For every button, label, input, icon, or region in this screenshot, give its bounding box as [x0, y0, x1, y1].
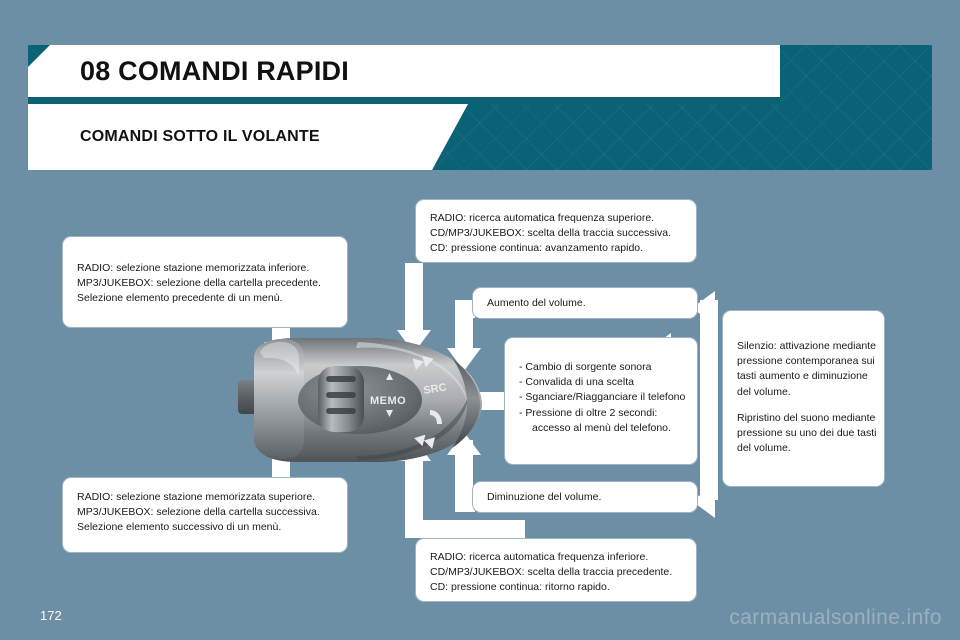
callout-line: MP3/JUKEBOX: selezione della cartella pr… [77, 276, 333, 291]
section-title: COMANDI SOTTO IL VOLANTE [80, 128, 320, 146]
callout-line: CD: pressione continua: ritorno rapido. [430, 580, 682, 595]
callout-line: CD/MP3/JUKEBOX: scelta della traccia pre… [430, 565, 682, 580]
callout-seek-up: RADIO: ricerca automatica frequenza supe… [415, 199, 697, 263]
callout-line: CD/MP3/JUKEBOX: scelta della traccia suc… [430, 226, 682, 241]
page-title: 08 COMANDI RAPIDI [80, 56, 349, 87]
callout-volume-up: Aumento del volume. [472, 287, 698, 319]
callout-next-station: RADIO: selezione stazione memorizzata su… [62, 477, 348, 553]
callout-previous-station: RADIO: selezione stazione memorizzata in… [62, 236, 348, 328]
header-divider-rule [28, 97, 780, 104]
callout-line: Ripristino del suono mediante [737, 411, 870, 426]
callout-mute: Silenzio: attivazione mediante pressione… [722, 310, 885, 487]
manual-page: 08 COMANDI RAPIDI COMANDI SOTTO IL VOLAN… [0, 0, 960, 640]
chapter-band: 08 COMANDI RAPIDI [28, 45, 780, 97]
callout-line: RADIO: ricerca automatica frequenza supe… [430, 211, 682, 226]
connector-bottom-center-horizontal [405, 520, 525, 538]
list-item: - Convalida di una scelta [519, 375, 683, 390]
paragraph-spacer [737, 400, 870, 411]
callout-line: Selezione elemento precedente di un menù… [77, 291, 333, 306]
callout-line: pressione su uno dei due tasti [737, 426, 870, 441]
callout-line: MP3/JUKEBOX: selezione della cartella su… [77, 505, 333, 520]
list-item: - Pressione di oltre 2 secondi: [519, 406, 683, 421]
watermark: carmanualsonline.info [729, 606, 942, 630]
list-item: accesso al menù del telefono. [519, 421, 683, 436]
section-band: COMANDI SOTTO IL VOLANTE [28, 104, 468, 170]
callout-line: RADIO: selezione stazione memorizzata su… [77, 490, 333, 505]
callout-line: Diminuzione del volume. [487, 490, 683, 505]
callout-line: del volume. [737, 385, 870, 400]
svg-text:MEMO: MEMO [370, 395, 406, 407]
callout-line: pressione contemporanea sui [737, 354, 870, 369]
callout-seek-down: RADIO: ricerca automatica frequenza infe… [415, 538, 697, 602]
callout-line: tasti aumento e diminuzione [737, 369, 870, 384]
steering-column-stalk-illustration: MEMO SRC [238, 318, 500, 478]
callout-line: CD: pressione continua: avanzamento rapi… [430, 241, 682, 256]
callout-line: Aumento del volume. [487, 296, 683, 311]
callout-line: RADIO: selezione stazione memorizzata in… [77, 261, 333, 276]
callout-source-select: - Cambio di sorgente sonora - Convalida … [504, 337, 698, 465]
list-item: - Cambio di sorgente sonora [519, 360, 683, 375]
callout-line: del volume. [737, 441, 870, 456]
callout-line: Silenzio: attivazione mediante [737, 339, 870, 354]
callout-line: Selezione elemento successivo di un menù… [77, 520, 333, 535]
callout-volume-down: Diminuzione del volume. [472, 481, 698, 513]
connector-mute [700, 300, 718, 500]
callout-line: RADIO: ricerca automatica frequenza infe… [430, 550, 682, 565]
list-item: - Sganciare/Riagganciare il telefono [519, 390, 683, 405]
page-number: 172 [40, 608, 62, 623]
callout-list: - Cambio di sorgente sonora - Convalida … [519, 360, 683, 436]
